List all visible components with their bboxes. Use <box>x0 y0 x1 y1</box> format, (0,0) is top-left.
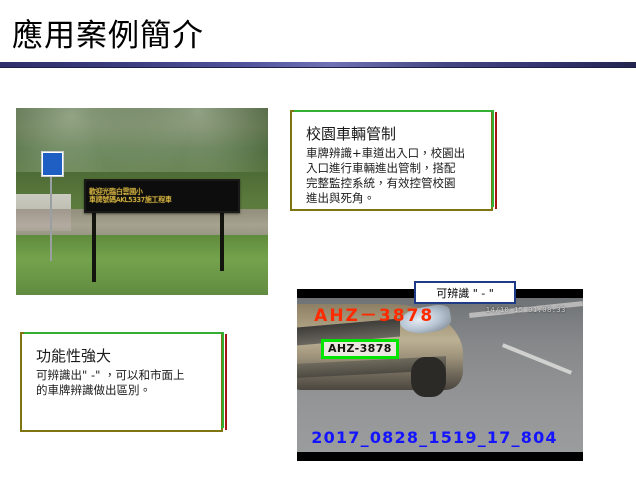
textbox-campus-vehicle-control: 校園車輛管制 車牌辨識+車道出入口，校園出 入口進行車輛進出管制，搭配 完整監控… <box>290 110 493 211</box>
textbox-body-line: 可辨識出" -" ，可以和市面上 <box>36 368 207 383</box>
photo-foliage-region <box>16 235 268 295</box>
led-display-board: 歡迎光臨白雲國小 車牌號碼AKL5337施工程車 <box>84 179 240 213</box>
textbox-heading: 校園車輛管制 <box>306 124 477 144</box>
page-title: 應用案例簡介 <box>12 16 204 56</box>
slide-canvas: 應用案例簡介 歡迎光臨白雲國小 車牌號碼AKL5337施工程車 校園車輛管制 車… <box>0 0 636 480</box>
road-sign-pole <box>50 177 52 261</box>
license-plate-detection-box: AHZ-3878 <box>321 339 398 359</box>
blue-road-sign <box>41 151 64 177</box>
led-sign-line-2: 車牌號碼AKL5337施工程車 <box>89 196 238 204</box>
road-sign-face <box>43 153 62 175</box>
anpr-scene: AHZ-3878 AHZ－3878 14/10-15 01:08:33 2017… <box>297 298 583 452</box>
textbox-feature-strength: 功能性強大 可辨識出" -" ，可以和市面上 的車牌辨識做出區別。 <box>20 332 223 432</box>
led-sign-post-left <box>92 211 96 282</box>
textbox-body-line: 的車牌辨識做出區別。 <box>36 383 207 398</box>
textbox-content: 校園車輛管制 車牌辨識+車道出入口，校園出 入口進行車輛進出管制，搭配 完整監控… <box>292 112 491 209</box>
ocr-result-overlay: AHZ－3878 <box>314 301 434 326</box>
camera-timestamp-overlay: 14/10-15 01:08:33 <box>486 306 566 314</box>
textbox-heading: 功能性強大 <box>36 346 207 366</box>
license-plate-text: AHZ-3878 <box>328 342 392 355</box>
lane-marking <box>502 343 572 375</box>
campus-entrance-photo: 歡迎光臨白雲國小 車牌號碼AKL5337施工程車 <box>16 108 268 295</box>
textbox-body-line: 入口進行車輛進出管制，搭配 <box>306 161 477 176</box>
title-divider-line <box>0 67 636 68</box>
frame-id-overlay: 2017_0828_1519_17_804 <box>311 428 557 447</box>
led-sign-post-right <box>220 211 224 271</box>
vehicle-wheel <box>411 357 445 397</box>
textbox-body-line: 車牌辨識+車道出入口，校園出 <box>306 146 477 161</box>
anpr-capture-photo: AHZ-3878 AHZ－3878 14/10-15 01:08:33 2017… <box>297 289 583 461</box>
callout-dash-recognition: 可辨識 " - " <box>414 281 516 304</box>
textbox-body-line: 進出與死角。 <box>306 191 477 206</box>
textbox-body-line: 完整監控系統，有效控管校園 <box>306 176 477 191</box>
textbox-body: 車牌辨識+車道出入口，校園出 入口進行車輛進出管制，搭配 完整監控系統，有效控管… <box>306 146 477 206</box>
textbox-body: 可辨識出" -" ，可以和市面上 的車牌辨識做出區別。 <box>36 368 207 398</box>
textbox-content: 功能性強大 可辨識出" -" ，可以和市面上 的車牌辨識做出區別。 <box>22 334 221 430</box>
